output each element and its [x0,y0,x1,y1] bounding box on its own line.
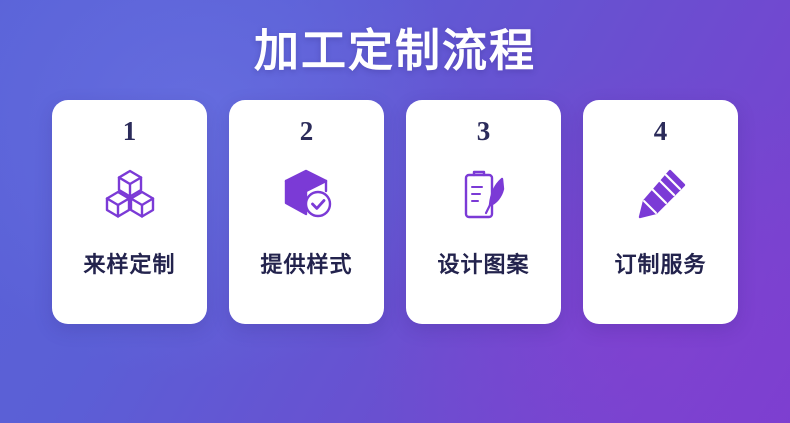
step-card-2[interactable]: 2 提供样式 [229,100,384,324]
box-check-icon [278,163,336,225]
step-number: 3 [477,118,491,145]
step-number: 2 [300,118,314,145]
step-label: 设计图案 [437,247,529,279]
step-label: 提供样式 [260,247,352,279]
step-card-4[interactable]: 4 订制服务 [583,100,738,324]
step-number: 1 [123,118,137,145]
clipboard-pen-icon [455,163,513,225]
step-card-1[interactable]: 1 来样定制 [52,100,207,324]
step-number: 4 [654,118,668,145]
pencil-ruler-icon [632,163,690,225]
step-label: 来样定制 [83,247,175,279]
process-poster: 加工定制流程 1 来样定制 2 [0,0,790,423]
steps-list: 1 来样定制 2 [0,100,790,324]
cubes-icon [101,163,159,225]
step-label: 订制服务 [614,247,706,279]
step-card-3[interactable]: 3 设计图案 [406,100,561,324]
page-title: 加工定制流程 [0,0,790,76]
